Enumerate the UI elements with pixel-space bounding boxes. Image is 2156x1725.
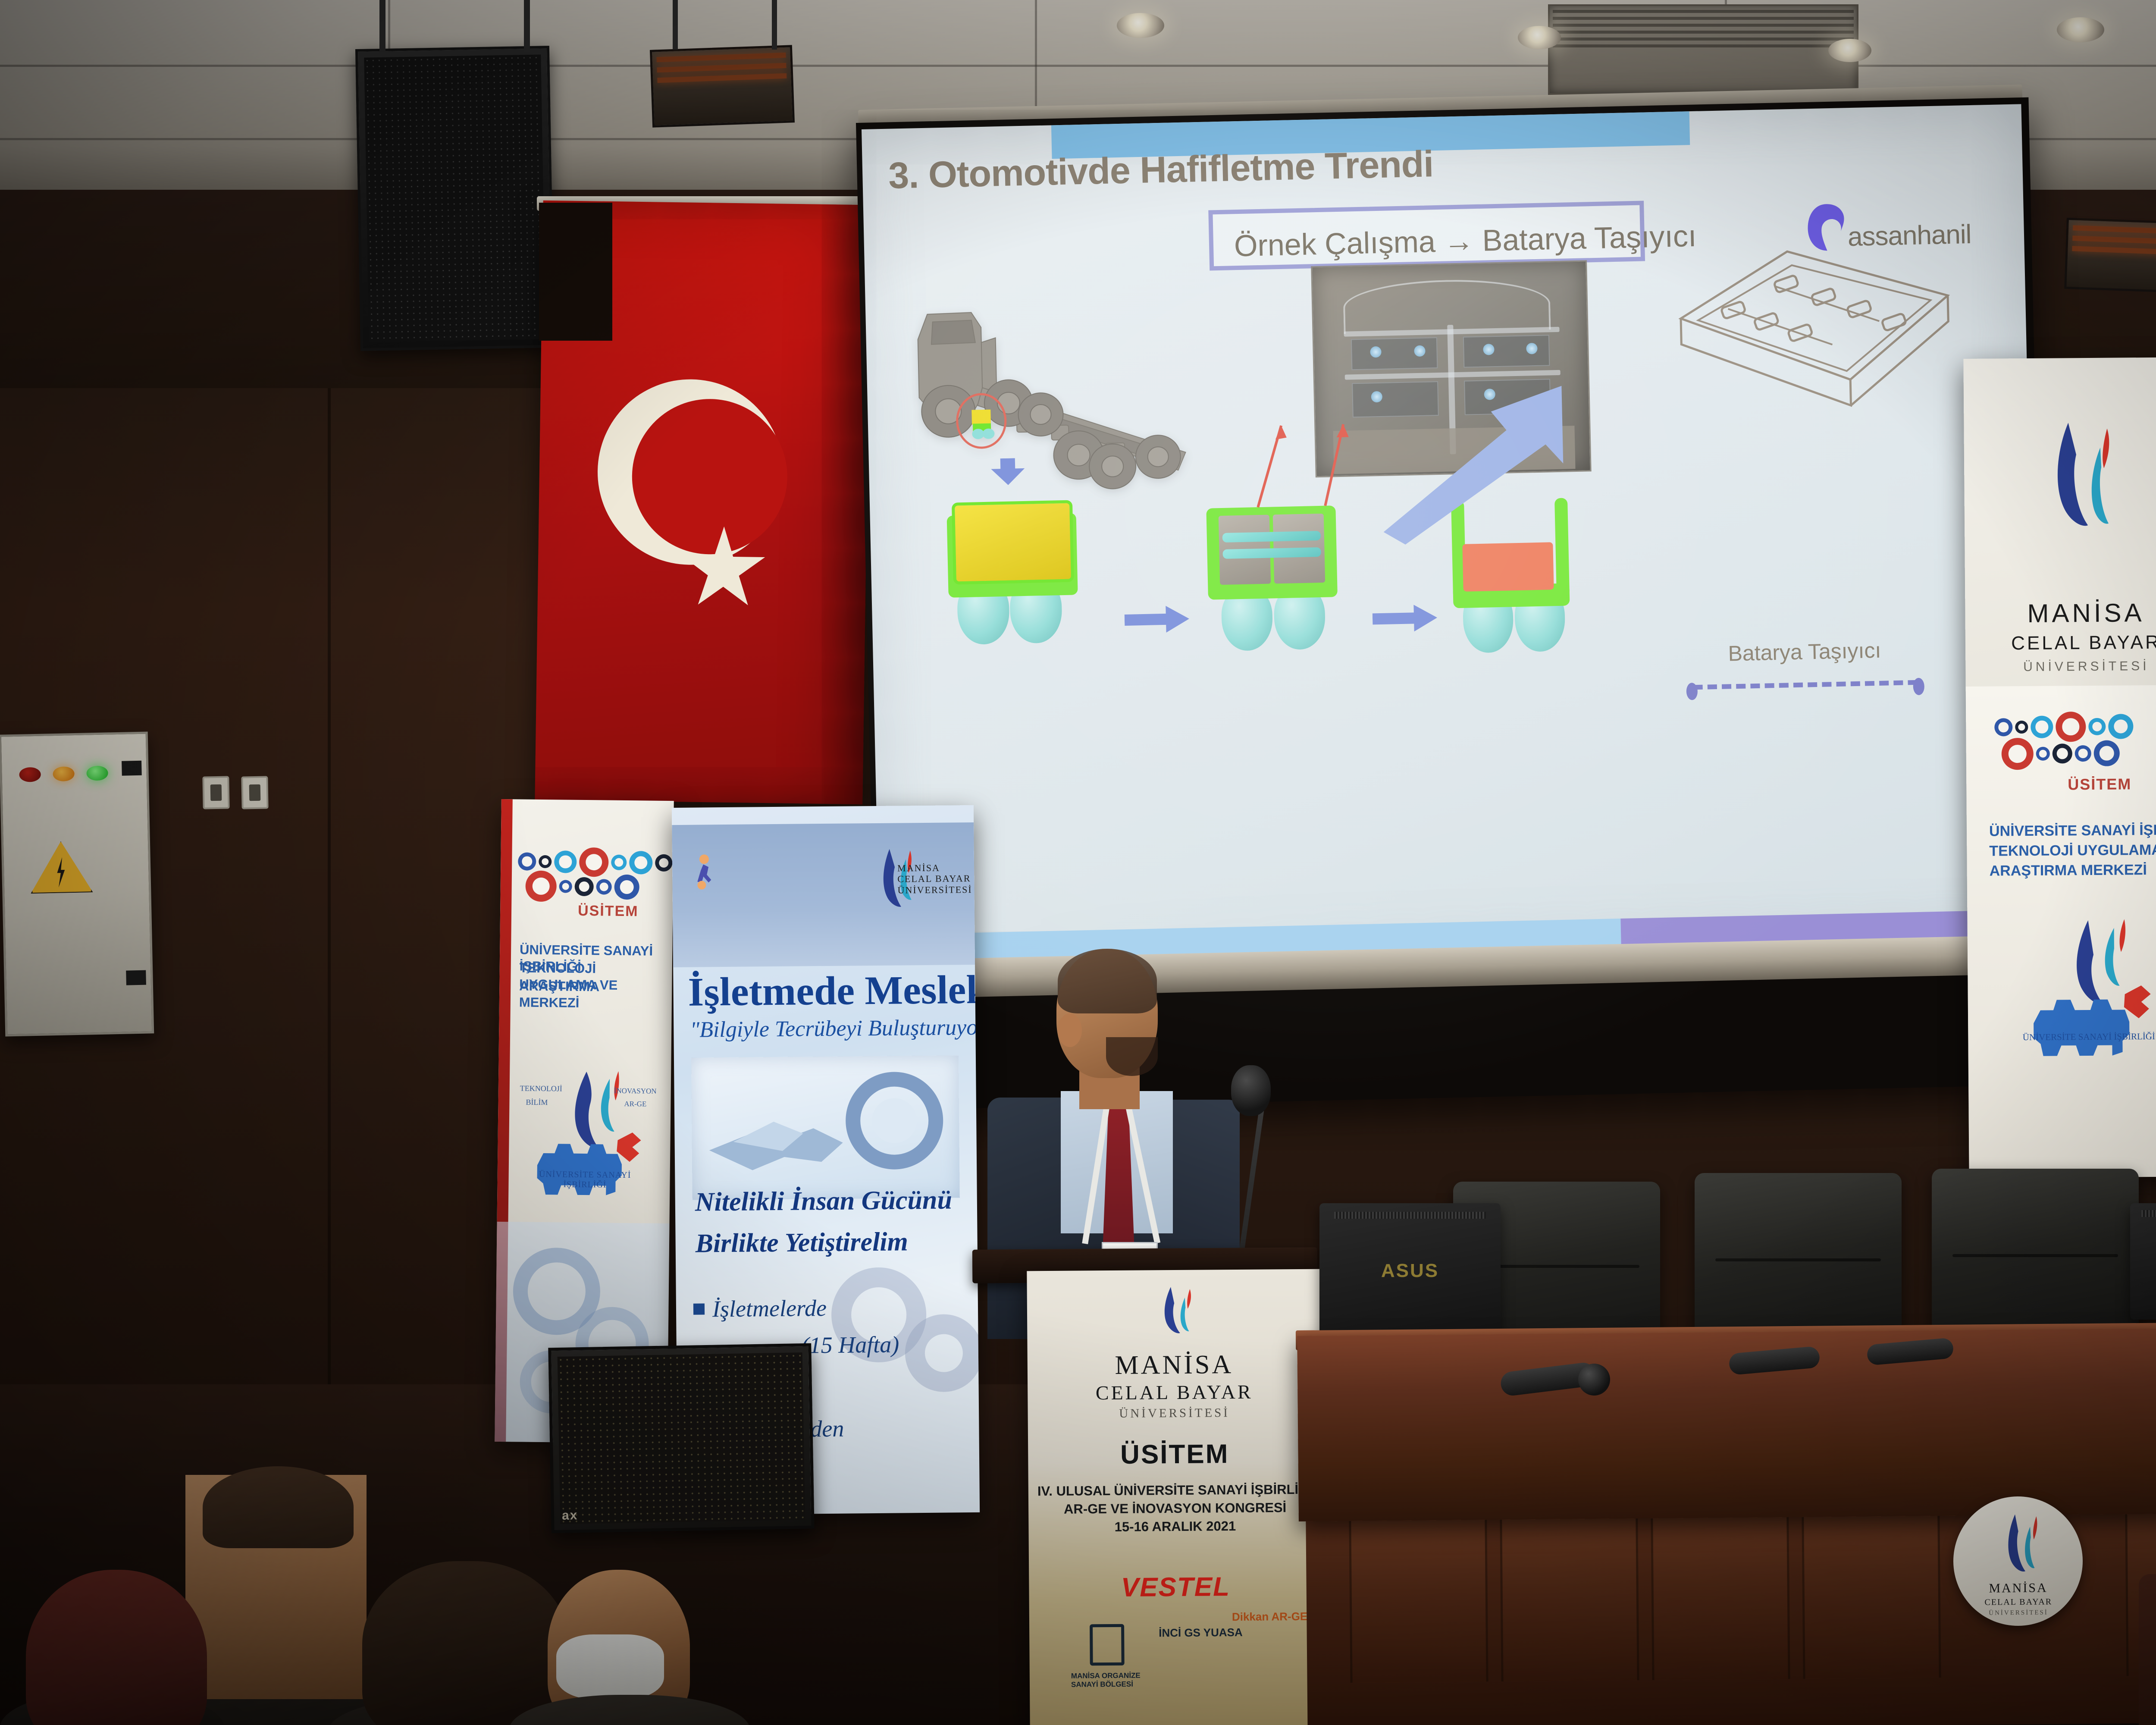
podium-university-3: ÜNİVERSİTESİ [1028, 1405, 1321, 1421]
table-front-panel [1651, 1493, 1790, 1680]
speaker-brand-label: ax [562, 1508, 578, 1523]
gear-icon [2031, 716, 2053, 738]
podium-event-date: 15-16 ARALIK 2021 [1028, 1518, 1322, 1536]
banner-mid-university-logo: MANİSA CELAL BAYAR ÜNİVERSİTESİ [858, 844, 944, 914]
head-table [1297, 1325, 2156, 1521]
ceiling-heater-left [650, 45, 795, 127]
banner-right-acronym: ÜSİTEM [2068, 775, 2131, 793]
podium-center-acronym: ÜSİTEM [1028, 1438, 1321, 1471]
banner-mid-bullet-1-note: (15 Hafta) [801, 1331, 899, 1359]
high-voltage-warning-icon [28, 838, 94, 896]
wall-panel-seam [328, 388, 331, 1402]
flow-arrow-down [975, 458, 1040, 486]
head-table-university-emblem: MANİSA CELAL BAYAR ÜNİVERSİTESİ [1953, 1496, 2084, 1627]
banner-left-tag-rd: AR-GE [624, 1100, 646, 1109]
ceiling-air-vent [1548, 4, 1858, 95]
gear-icon [655, 854, 672, 872]
table-front-panel [1500, 1495, 1639, 1681]
monitor-vent [1334, 1212, 1486, 1219]
battery-carrier-wireframe [1645, 235, 1977, 470]
gear-icon [518, 852, 536, 870]
banner-left-acronym: ÜSİTEM [578, 903, 639, 920]
gear-icon [559, 880, 572, 893]
speaker-hanger [379, 0, 385, 52]
conference-hall-photo: 3. Otomotivde Hafifletme Trendi Örnek Ça… [0, 0, 2156, 1725]
monitor-vent [2141, 1210, 2156, 1217]
gear-graphic-row [2002, 737, 2120, 770]
cad-stage-modules [1202, 499, 1351, 644]
gear-icon [2108, 714, 2133, 739]
panel-led-amber [53, 766, 75, 781]
dimension-dashed-line [1693, 680, 1918, 690]
gear-graphic-row [525, 871, 639, 903]
banner-left-line3: ARAŞTIRMA MERKEZİ [519, 978, 662, 1012]
banner-mid-subhead-1: Nitelikli İnsan Gücünü [695, 1185, 953, 1217]
heater-hanger [673, 0, 678, 50]
emblem-line-3: ÜNİVERSİTESİ [1954, 1609, 2083, 1618]
podium-university-1: MANİSA [1028, 1349, 1321, 1381]
banner-mid-handshake-photo [691, 1055, 960, 1200]
podium-sponsor-4-mark [1090, 1624, 1125, 1666]
gear-icon [2075, 745, 2091, 762]
panel-hinge [126, 970, 146, 985]
flag-corner-notch [539, 203, 612, 341]
banner-mid-headline: İşletmede Mesleki Eğitim [688, 965, 980, 1016]
gear-icon [2053, 743, 2072, 763]
mcbu-flame-icon [1979, 1508, 2057, 1591]
asus-monitor: ASUS [1319, 1203, 1501, 1345]
projection-screen: 3. Otomotivde Hafifletme Trendi Örnek Ça… [862, 104, 2039, 961]
ceiling-downlight [1117, 13, 1164, 38]
second-monitor [2130, 1203, 2156, 1320]
flow-arrow-right-2 [1372, 604, 1437, 632]
banner-right-university-3: ÜNİVERSİTESİ [1965, 659, 2156, 674]
wall-socket [202, 776, 229, 809]
microphone-head [1231, 1065, 1271, 1116]
presenter-ear [1058, 1013, 1082, 1047]
mcbu-flame-icon [2020, 414, 2150, 600]
banner-left-tag-science: BİLİM [526, 1098, 548, 1107]
presenter-beard [1106, 1037, 1158, 1076]
gear-icon [2088, 718, 2106, 735]
handshake-gear-illustration [691, 1055, 960, 1200]
electrical-panel [0, 731, 154, 1036]
ceiling-downlight [2057, 17, 2104, 42]
banner-mid-subhead-2: Birlikte Yetiştirelim [695, 1226, 908, 1259]
audience-face-mask [556, 1634, 664, 1699]
podium-main-sponsor: VESTEL [1029, 1571, 1322, 1604]
podium-event-line1: IV. ULUSAL ÜNİVERSİTE SANAYİ İŞBİRLİĞİ [1028, 1481, 1322, 1500]
usis-seal-logo-right: ÜNİVERSİTE SANAYİ İŞBİRLİĞİ [2019, 914, 2156, 1061]
banner-right-line2: TEKNOLOJİ UYGULAMA VE [1989, 841, 2156, 860]
usis-seal-text-right: ÜNİVERSİTE SANAYİ İŞBİRLİĞİ [2015, 1031, 2156, 1043]
tray-harness-wire [1343, 278, 1551, 334]
banner-right-line1: ÜNİVERSİTE SANAYİ İŞBİRLİĞİ [1989, 821, 2156, 841]
banner-right-line3: ARAŞTIRMA MERKEZİ [1990, 861, 2147, 880]
banner-right-university-2: CELAL BAYAR [1965, 632, 2156, 654]
table-front-panel [1349, 1496, 1489, 1683]
podium-sponsor-4: MANİSA ORGANİZE SANAYİ BÖLGESİ [1071, 1671, 1157, 1689]
gear-icon [554, 850, 577, 873]
battery-carrier-caption: Batarya Taşıyıcı [1666, 637, 1943, 668]
emblem-line-2: CELAL BAYAR [1954, 1597, 2083, 1608]
foreground-seat [2139, 1574, 2156, 1725]
cad-stage-battery-box [943, 496, 1088, 641]
mcbu-logo-right [2020, 414, 2150, 600]
gear-icon [2015, 721, 2028, 734]
presenter-hair [1058, 949, 1157, 1013]
podium-event-line2: AR-GE VE İNOVASYON KONGRESİ [1028, 1499, 1322, 1518]
audience-head [362, 1561, 569, 1725]
speaker-grille [558, 1352, 805, 1524]
emblem-line-1: MANİSA [1953, 1581, 2083, 1596]
gear-icon [629, 851, 653, 875]
gear-icon [574, 877, 593, 896]
panel-hinge [122, 761, 142, 776]
banner-right-university-1: MANİSA [1965, 599, 2156, 627]
panel-led-green [86, 765, 108, 781]
mcbu-flame-icon [1027, 1282, 1321, 1349]
podium-sponsor-2: İNCİ GS YUASA [1159, 1626, 1243, 1640]
runner-icon [697, 854, 718, 892]
transform-arrow-big [1376, 354, 1621, 545]
ceiling-heater-right [2064, 218, 2156, 293]
ceiling-downlight [1828, 39, 1871, 62]
banner-left-tag-innovation: İNOVASYON [614, 1087, 657, 1096]
gear-icon [596, 879, 612, 894]
banner-mid-slogan: "Bilgiyle Tecrübeyi Buluşturuyoruz" [690, 1014, 980, 1043]
flow-arrow-right-1 [1124, 605, 1189, 634]
gear-icon [539, 855, 552, 868]
dimension-endpoint [1686, 683, 1698, 700]
banner-mcbu-right: MANİSA CELAL BAYAR ÜNİVERSİTESİ ÜSİTEM Ü… [1963, 357, 2156, 1178]
gear-icon [2036, 747, 2050, 761]
gear-icon [614, 875, 639, 900]
cad-crossmember [1462, 542, 1554, 592]
podium-lectern: MANİSA CELAL BAYAR ÜNİVERSİTESİ ÜSİTEM I… [1027, 1269, 1323, 1725]
pa-speaker-left [355, 46, 555, 351]
heater-hanger [772, 0, 777, 50]
wall-socket [241, 776, 268, 809]
dimension-endpoint [1913, 678, 1924, 696]
slide-title: 3. Otomotivde Hafifletme Trendi [888, 143, 1434, 198]
table-front-panel [1802, 1492, 1941, 1679]
banner-left-tag-tech: TEKNOLOJİ [520, 1084, 562, 1093]
speaker-grille [364, 54, 545, 342]
gear-icon-graduation [525, 871, 557, 902]
gear-icon [2094, 740, 2120, 766]
speaker-hanger [524, 0, 530, 52]
gear-icon-graduation [2002, 738, 2034, 770]
monitor-brand-label: ASUS [1319, 1260, 1501, 1282]
cad-battery-box [952, 500, 1074, 585]
audience-hair [203, 1466, 354, 1548]
banner-mid-university-name: MANİSA CELAL BAYAR ÜNİVERSİTESİ [897, 862, 972, 895]
banner-mid-bullet-1: İşletmelerde [712, 1295, 827, 1322]
usis-seal-text: ÜNİVERSİTE SANAYİ İŞBİRLİĞİ [522, 1170, 647, 1191]
truck-cad-illustration [906, 282, 1213, 512]
floor-stage-monitor-speaker: ax [548, 1343, 814, 1534]
slide-subtitle-text: Örnek Çalışma → Batarya Taşıyıcı [1234, 219, 1697, 263]
ceiling-downlight [1518, 26, 1561, 49]
podium-university-2: CELAL BAYAR [1028, 1380, 1321, 1405]
flag-crescent-inner [631, 398, 788, 555]
gear-icon [1994, 718, 2012, 736]
panel-led-red [19, 767, 41, 782]
callout-arrows-red [1243, 420, 1353, 509]
podium-sponsor-3: Dikkan AR-GE [1232, 1610, 1308, 1624]
bullet-marker [693, 1303, 705, 1314]
gear-icon [611, 855, 627, 870]
